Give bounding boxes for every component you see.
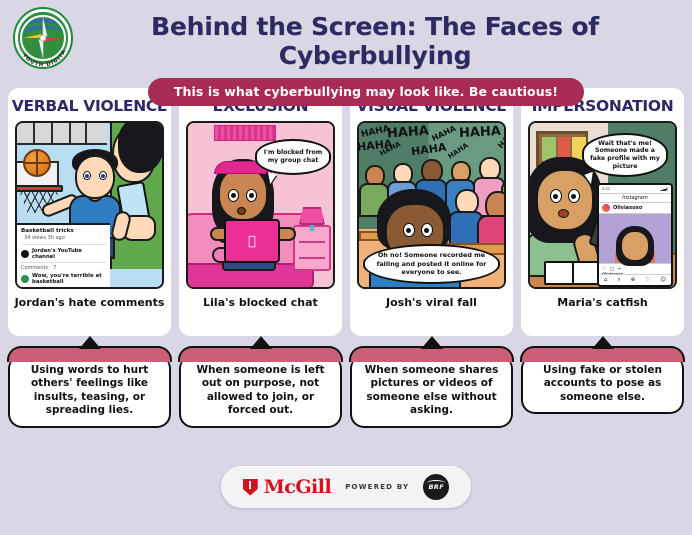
definition-column: Using words to hurt others' feelings lik…	[8, 346, 171, 454]
channel-row[interactable]: Jordan's YouTube channel	[21, 244, 106, 260]
definition-box-visual-violence: When someone shares pictures or videos o…	[350, 355, 513, 428]
comment-row: Wow, you're terrible at basketball	[21, 273, 106, 285]
bubble-pointer-icon	[81, 337, 99, 348]
app-header: Instagram	[599, 193, 671, 203]
video-meta: 34 views 3h ago	[21, 235, 106, 241]
nightstand-icon	[293, 225, 331, 271]
panel-caption: Josh's viral fall	[386, 296, 477, 309]
sponsor-bar: McGill POWERED BY BRF	[221, 466, 472, 508]
basketball-rim-icon	[15, 185, 63, 192]
bubble-pointer-icon	[423, 337, 441, 348]
definition-text: Using words to hurt others' feelings lik…	[31, 364, 149, 416]
definition-text: When someone is left out on purpose, not…	[196, 364, 324, 416]
channel-avatar-icon	[21, 250, 29, 258]
mcgill-wordmark: McGill	[264, 476, 331, 498]
definition-text: When someone shares pictures or videos o…	[365, 364, 499, 416]
illustration-blocked-chat:  I'm blocked from my group chat	[186, 121, 335, 289]
speech-bubble: Wait that's me! Someone made a fake prof…	[582, 133, 668, 177]
lamp-icon	[299, 207, 325, 225]
curtain-icon	[214, 125, 276, 141]
panel-caption: Lila's blocked chat	[203, 296, 318, 309]
profile-row[interactable]: Oliviaxoxo	[599, 203, 671, 214]
illustration-fake-profile: 3:41 ▂▄▮ Instagram Oliviaxoxo ♡ ◻ ⌲	[528, 121, 677, 289]
definition-column: When someone is left out on purpose, not…	[179, 346, 342, 454]
bubble-pointer-icon	[594, 337, 612, 348]
panel-impersonation[interactable]: IMPERSONATION 3:41	[521, 88, 684, 336]
subtitle-banner: This is what cyberbullying may look like…	[148, 78, 584, 106]
laugh-text: HAHA	[459, 124, 502, 141]
basketball-icon	[23, 149, 51, 177]
definition-box-impersonation: Using fake or stolen accounts to pose as…	[521, 355, 684, 414]
book-icon	[544, 261, 600, 285]
youtube-video-overlay[interactable]: Basketball tricks 34 views 3h ago Jordan…	[17, 223, 110, 288]
page-header: YOUTH DIGITAL COMPASS Behind the Screen:…	[0, 0, 692, 88]
search-icon[interactable]: ⌕	[618, 277, 621, 284]
bottom-nav[interactable]: ⌂ ⌕ ⊕ ♡ ☺	[599, 274, 671, 285]
home-icon[interactable]: ⌂	[604, 277, 608, 283]
powered-by-label: POWERED BY	[345, 483, 409, 491]
page-title: Behind the Screen: The Faces of Cyberbul…	[0, 4, 692, 70]
bubble-pointer-icon	[252, 337, 270, 348]
speech-bubble: I'm blocked from my group chat	[255, 139, 331, 175]
profile-photo	[599, 214, 671, 263]
heart-icon[interactable]: ♡	[645, 277, 650, 283]
definition-column: When someone shares pictures or videos o…	[350, 346, 513, 454]
apple-logo-icon: 	[248, 235, 256, 248]
status-bar: 3:41 ▂▄▮	[599, 185, 671, 193]
student-figure	[505, 163, 506, 185]
panel-verbal-violence[interactable]: VERBAL VIOLENCE	[8, 88, 171, 336]
signal-icon: ▂▄▮	[660, 187, 668, 191]
status-time: 3:41	[602, 187, 610, 191]
commenter-avatar-icon	[21, 275, 29, 283]
mcgill-logo: McGill	[243, 476, 331, 498]
definition-column: Using fake or stolen accounts to pose as…	[521, 346, 684, 454]
laugh-text: HAHA	[387, 124, 430, 142]
definition-row: Using words to hurt others' feelings lik…	[0, 336, 692, 454]
panel-exclusion[interactable]: EXCLUSION  I'm bloc	[179, 88, 342, 336]
profile-username: Oliviaxoxo	[613, 205, 642, 211]
speech-bubble: Oh no! Someone recorded me falling and p…	[363, 244, 500, 284]
channel-name: Jordan's YouTube channel	[32, 248, 106, 260]
mcgill-shield-icon	[243, 479, 258, 496]
panel-caption: Maria's catfish	[557, 296, 647, 309]
page-footer: McGill POWERED BY BRF	[0, 466, 692, 508]
video-title: Basketball tricks	[21, 228, 106, 234]
panel-row: VERBAL VIOLENCE	[0, 88, 692, 336]
add-post-icon[interactable]: ⊕	[631, 277, 636, 283]
definition-text: Using fake or stolen accounts to pose as…	[543, 364, 662, 403]
profile-avatar-icon	[602, 204, 610, 212]
definition-box-verbal-violence: Using words to hurt others' feelings lik…	[8, 355, 171, 428]
panel-caption: Jordan's hate comments	[15, 296, 165, 309]
illustration-classroom-laughter: HAHA HAHA HAHA HAHA HAHA HAHA HAHA HAHA …	[357, 121, 506, 289]
app-name: Instagram	[622, 195, 647, 201]
instagram-phone-screen[interactable]: 3:41 ▂▄▮ Instagram Oliviaxoxo ♡ ◻ ⌲	[597, 183, 673, 287]
profile-icon[interactable]: ☺	[660, 277, 666, 283]
comments-header: Comments7	[21, 262, 106, 271]
gym-window-icon	[17, 123, 107, 145]
youth-digital-compass-logo: YOUTH DIGITAL COMPASS	[12, 6, 74, 78]
comment-text: Wow, you're terrible at basketball	[32, 273, 106, 285]
illustration-basketball-video: Basketball tricks 34 views 3h ago Jordan…	[15, 121, 164, 289]
brf-logo-icon: BRF	[423, 474, 449, 500]
definition-box-exclusion: When someone is left out on purpose, not…	[179, 355, 342, 428]
panel-visual-violence[interactable]: VISUAL VIOLENCE HAHA HAHA HAHA HAHA HAHA…	[350, 88, 513, 336]
